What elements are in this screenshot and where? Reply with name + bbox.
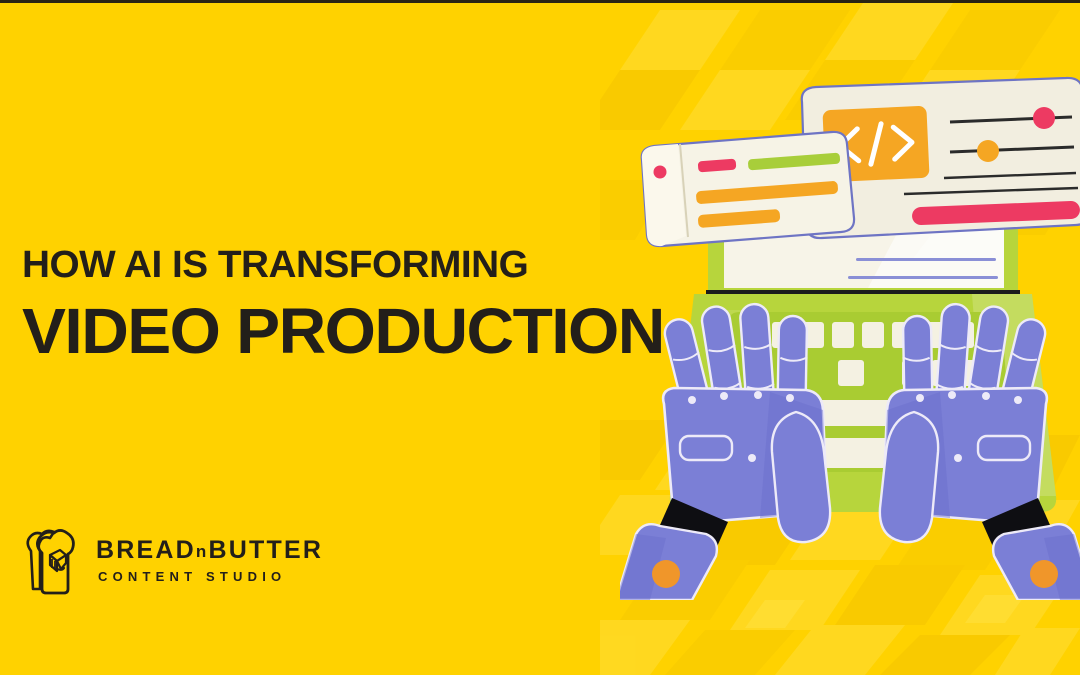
logo-word-butter: BUTTER [209, 536, 324, 564]
forearm-indicator-left [652, 560, 680, 588]
headline-line-1: HOW AI IS TRANSFORMING [22, 245, 658, 285]
robot-hands-laptop-illustration [620, 60, 1080, 600]
slider-knob-pink [1033, 107, 1055, 129]
headline-block: HOW AI IS TRANSFORMING VIDEO PRODUCTION [22, 245, 645, 365]
list-panel-card [642, 132, 854, 246]
logo-subtitle: CONTENT STUDIO [98, 569, 323, 585]
logo-word-joiner: n [196, 542, 209, 561]
bread-slice-icon [20, 527, 82, 595]
poster-canvas: HOW AI IS TRANSFORMING VIDEO PRODUCTION … [0, 0, 1080, 675]
forearm-indicator-right [1030, 560, 1058, 588]
logo-text-block: BREADnBUTTER CONTENT STUDIO [96, 537, 323, 585]
brand-logo[interactable]: BREADnBUTTER CONTENT STUDIO [20, 527, 323, 595]
status-dot-pink [654, 166, 667, 179]
top-edge-strip [0, 0, 1080, 3]
headline-line-2: VIDEO PRODUCTION [22, 297, 664, 365]
slider-knob-orange [977, 140, 999, 162]
logo-word-bread: BREAD [96, 536, 196, 564]
logo-wordmark: BREADnBUTTER [96, 537, 323, 566]
